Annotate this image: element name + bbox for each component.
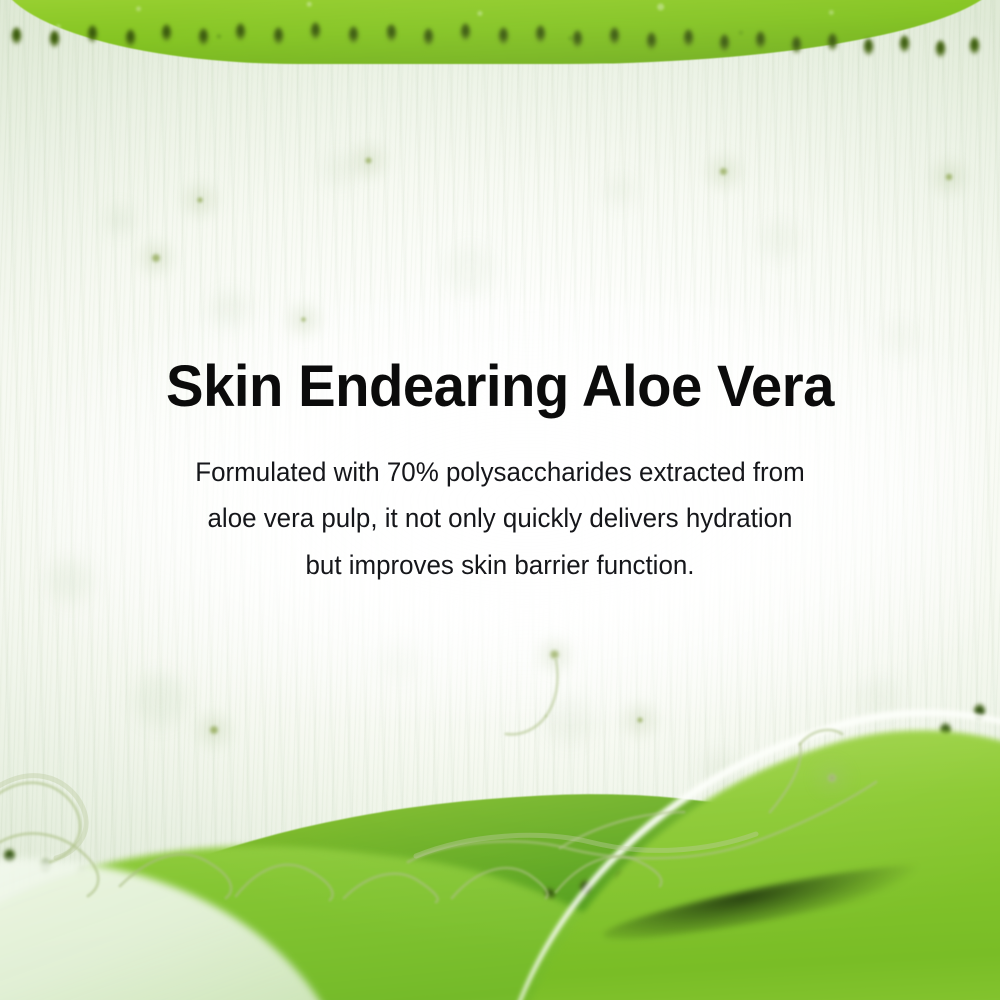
banner-description: Formulated with 70% polysaccharides extr… bbox=[121, 449, 879, 588]
aloe-vera-promo-banner: Skin Endearing Aloe Vera Formulated with… bbox=[0, 0, 1000, 1000]
banner-description-line: aloe vera pulp, it not only quickly deli… bbox=[208, 503, 793, 533]
banner-description-line: Formulated with 70% polysaccharides extr… bbox=[195, 457, 804, 487]
page-title: Skin Endearing Aloe Vera bbox=[73, 356, 927, 419]
banner-description-line: but improves skin barrier function. bbox=[306, 550, 695, 580]
banner-text-block: Skin Endearing Aloe Vera Formulated with… bbox=[0, 356, 1000, 588]
